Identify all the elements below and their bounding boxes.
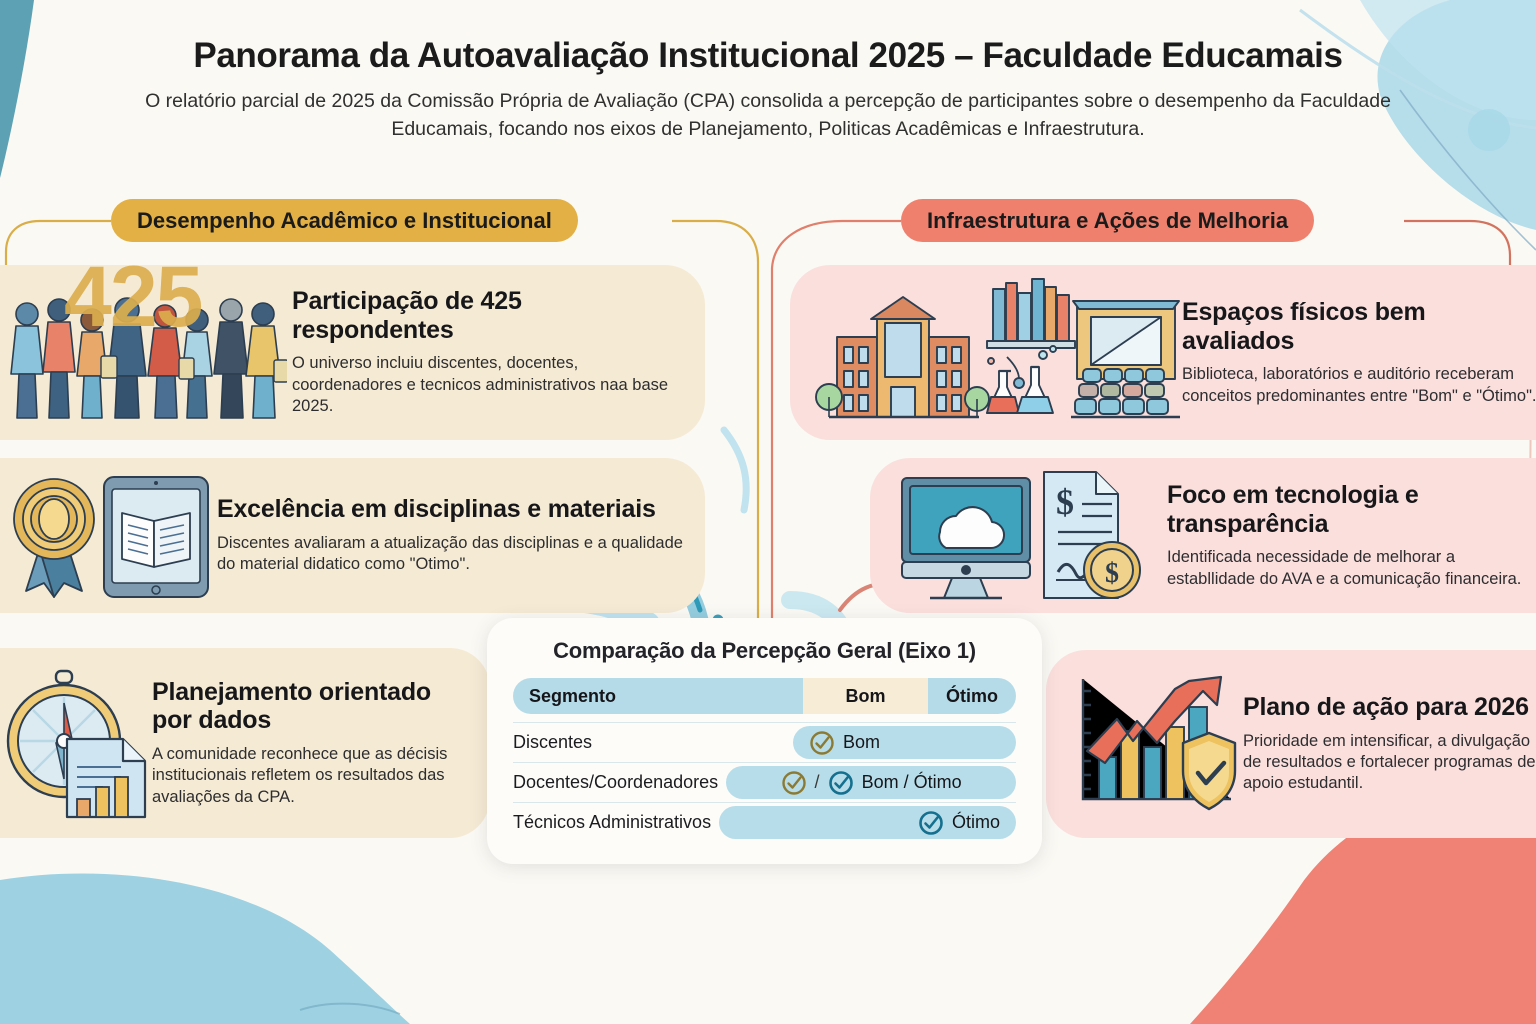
comparison-table-card: Comparação da Percepção Geral (Eixo 1) S… [487,618,1042,864]
column-header-otimo: Ótimo [928,678,1016,714]
svg-text:$: $ [1056,482,1074,522]
card-espacos-fisicos-title: Espaços físicos bem avaliados [1182,298,1536,355]
column-header-bom: Bom [803,678,928,714]
card-tecnologia-body: Identificada necessidade de melhorar a e… [1167,547,1536,590]
connector-right-out [1404,221,1510,270]
column-header-segmento: Segmento [513,686,803,707]
card-planejamento-title: Planejamento orientado por dados [152,678,468,735]
monitor-cloud-invoice-coin-icon: $ $ [892,466,1167,606]
blob-bottom-left [0,873,410,1024]
card-tecnologia: $ $ Foco em tecnologia e transparência I… [870,458,1536,613]
campus-illustration [815,275,1180,430]
row-value-label: Bom / Ótimo [862,772,962,793]
table-row: Docentes/Coordenadores / Bom / Ótimo [513,762,1016,802]
card-excelencia: Excelência em disciplinas e materiais Di… [0,458,705,613]
card-plano-acao: Plano de ação para 2026 Prioridade em in… [1046,650,1536,838]
award-tablet-illustration [0,471,214,601]
card-participacao-title: Participação de 425 respondentes [292,287,683,344]
row-value-pill: Ótimo [719,806,1016,839]
comparison-table-title: Comparação da Percepção Geral (Eixo 1) [513,638,1016,664]
table-row: Discentes Bom [513,722,1016,762]
check-circle-bom-icon [781,770,807,796]
card-plano-acao-text: Plano de ação para 2026 Prioridade em in… [1243,693,1536,795]
compass-report-illustration [0,663,150,823]
growth-plan-illustration [1071,669,1241,819]
section-header-left: Desempenho Acadêmico e Institucional [111,199,578,242]
stat-425: 425 [64,248,202,347]
row-value-pill: Bom [793,726,1016,759]
section-header-right-label: Infraestrutura e Ações de Melhoria [927,208,1288,234]
page-title: Panorama da Autoavaliação Institucional … [0,36,1536,75]
compass-report-chart-icon [0,663,152,823]
row-value-pill: / Bom / Ótimo [726,766,1016,799]
card-excelencia-text: Excelência em disciplinas e materiais Di… [217,495,683,575]
row-segment-label: Docentes/Coordenadores [513,772,726,793]
card-participacao-text: Participação de 425 respondentes O unive… [292,287,683,417]
section-header-left-label: Desempenho Acadêmico e Institucional [137,208,552,234]
tech-transparency-illustration: $ $ [896,466,1164,606]
table-row: Técnicos Administrativos Ótimo [513,802,1016,842]
card-plano-acao-body: Prioridade em intensificar, a divulgação… [1243,731,1536,795]
card-tecnologia-text: Foco em tecnologia e transparência Ident… [1167,481,1536,590]
check-circle-otimo-icon [918,810,944,836]
ribbon-blue-4 [724,430,746,510]
card-espacos-fisicos: Espaços físicos bem avaliados Biblioteca… [790,265,1536,440]
row-segment-label: Discentes [513,732,793,753]
page-subtitle: O relatório parcial de 2025 da Comissão … [143,88,1393,143]
row-value-label: Bom [843,732,880,753]
card-planejamento-body: A comunidade reconhece que as décisis in… [152,744,468,808]
comparison-table-header-row: Segmento Bom Ótimo [513,678,1016,714]
card-tecnologia-title: Foco em tecnologia e transparência [1167,481,1536,538]
award-ribbon-tablet-book-icon [0,471,217,601]
row-segment-label: Técnicos Administrativos [513,812,719,833]
thin-line-bottom-left [300,1004,400,1014]
card-planejamento: Planejamento orientado por dados A comun… [0,648,490,838]
growth-arrow-bars-shield-icon [1068,669,1243,819]
section-header-right: Infraestrutura e Ações de Melhoria [901,199,1314,242]
card-participacao: 425 [0,265,705,440]
row-value-label: Ótimo [952,812,1000,833]
campus-library-lab-auditorium-icon [812,275,1182,430]
card-participacao-body: O universo incluiu discentes, docentes, … [292,353,683,417]
card-espacos-fisicos-body: Biblioteca, laboratórios e auditório rec… [1182,364,1536,407]
svg-text:$: $ [1105,558,1119,589]
card-espacos-fisicos-text: Espaços físicos bem avaliados Biblioteca… [1182,298,1536,407]
card-excelencia-body: Discentes avaliaram a atualização das di… [217,533,683,576]
page-header: Panorama da Autoavaliação Institucional … [0,36,1536,144]
people-group-icon: 425 [0,278,292,428]
card-planejamento-text: Planejamento orientado por dados A comun… [152,678,468,808]
card-plano-acao-title: Plano de ação para 2026 [1243,693,1536,722]
card-excelencia-title: Excelência em disciplinas e materiais [217,495,683,524]
row-value-separator: / [815,772,820,793]
check-circle-bom-icon [809,730,835,756]
check-circle-otimo-icon [828,770,854,796]
